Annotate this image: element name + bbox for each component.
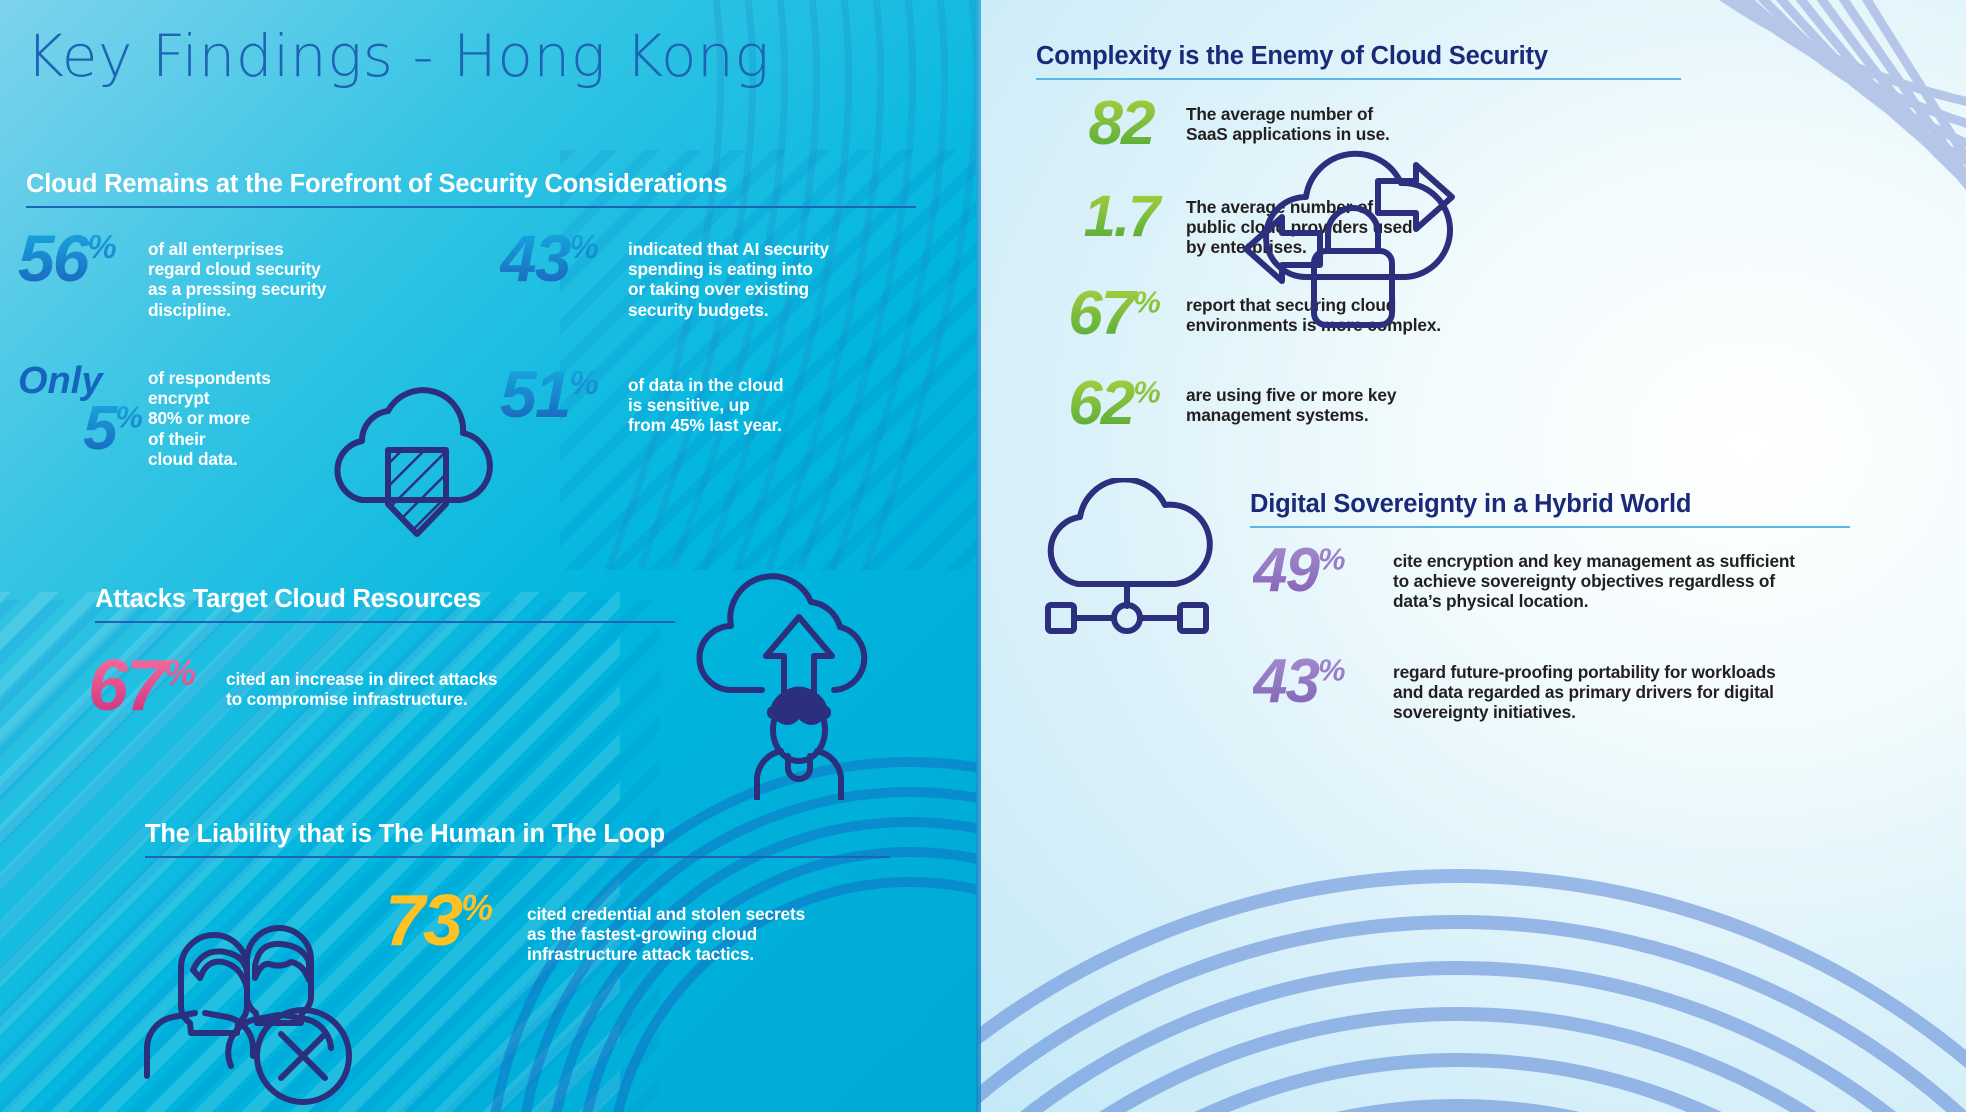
cloud-network-icon [1030, 478, 1230, 638]
section-heading: Attacks Target Cloud Resources [95, 585, 685, 614]
stat-text: of respondents encrypt 80% or more of th… [148, 362, 271, 469]
section-rule [1250, 526, 1850, 528]
section-heading: Cloud Remains at the Forefront of Securi… [26, 170, 926, 199]
stat-text: of all enterprises regard cloud security… [148, 228, 326, 320]
stat-62-key-management: 62% are using five or more key managemen… [1042, 375, 1642, 432]
stat-text: cited an increase in direct attacks to c… [226, 653, 497, 709]
stat-value: 5% [18, 400, 148, 457]
panel-divider [976, 0, 981, 1112]
stat-value: 67% [88, 653, 226, 719]
right-bottom-arcs [978, 732, 1966, 1112]
section-heading: Digital Sovereignty in a Hybrid World [1250, 490, 1870, 519]
page-title: Key Findings - Hong Kong [26, 22, 770, 90]
stat-value: 51% [500, 364, 628, 425]
stat-only-5-percent: Only 5% of respondents encrypt 80% or mo… [18, 362, 358, 469]
stat-value: 67% [1042, 285, 1186, 342]
stat-73-percent-credentials: 73% cited credential and stolen secrets … [385, 888, 945, 965]
stat-text: cited credential and stolen secrets as t… [527, 888, 805, 965]
stat-text: indicated that AI security spending is e… [628, 228, 829, 320]
cloud-lock-arrows-icon [1228, 125, 1488, 335]
stat-value: 43% [1253, 653, 1393, 710]
section-cloud-forefront: Cloud Remains at the Forefront of Securi… [26, 170, 926, 208]
left-panel: Key Findings - Hong Kong Cloud Remains a… [0, 0, 978, 1112]
stat-49-sovereignty: 49% cite encryption and key management a… [1253, 542, 1953, 612]
stat-43-percent-ai: 43% indicated that AI security spending … [500, 228, 950, 320]
stat-value: 82 [1056, 95, 1186, 152]
section-heading: Complexity is the Enemy of Cloud Securit… [1036, 42, 1696, 71]
stat-text: are using five or more key management sy… [1186, 375, 1396, 425]
stat-value: 1.7 [1056, 190, 1186, 243]
stat-text: regard future-proofing portability for w… [1393, 653, 1776, 723]
left-diagonal-stripes-top [560, 150, 978, 570]
section-digital-sovereignty: Digital Sovereignty in a Hybrid World [1250, 490, 1870, 528]
section-rule [95, 621, 675, 623]
section-human-in-the-loop: The Liability that is The Human in The L… [145, 820, 905, 858]
stat-text: of data in the cloud is sensitive, up fr… [628, 364, 783, 436]
right-panel: Complexity is the Enemy of Cloud Securit… [978, 0, 1966, 1112]
section-rule [145, 856, 890, 858]
section-complexity-enemy: Complexity is the Enemy of Cloud Securit… [1036, 42, 1696, 80]
stat-value: 43% [500, 228, 628, 289]
stat-value: 62% [1042, 375, 1186, 432]
two-people-denied-icon [135, 880, 365, 1112]
stat-text: cite encryption and key management as su… [1393, 542, 1795, 612]
stat-value-group: Only 5% [18, 362, 148, 457]
stat-43-future-proofing: 43% regard future-proofing portability f… [1253, 653, 1953, 723]
cloud-shield-icon [310, 382, 510, 557]
stat-value: 56% [18, 228, 148, 289]
infographic-canvas: Key Findings - Hong Kong Cloud Remains a… [0, 0, 1966, 1112]
stat-value: 73% [385, 888, 527, 954]
stat-51-percent: 51% of data in the cloud is sensitive, u… [500, 364, 950, 436]
stat-56-percent: 56% of all enterprises regard cloud secu… [18, 228, 328, 320]
stat-value: 49% [1253, 542, 1393, 599]
section-heading: The Liability that is The Human in The L… [145, 820, 905, 849]
section-rule [26, 206, 916, 208]
section-rule [1036, 78, 1681, 80]
cloud-upload-hacker-icon [692, 560, 912, 800]
stat-67-percent-attacks: 67% cited an increase in direct attacks … [88, 653, 708, 719]
section-attacks-target-cloud: Attacks Target Cloud Resources [95, 585, 685, 623]
